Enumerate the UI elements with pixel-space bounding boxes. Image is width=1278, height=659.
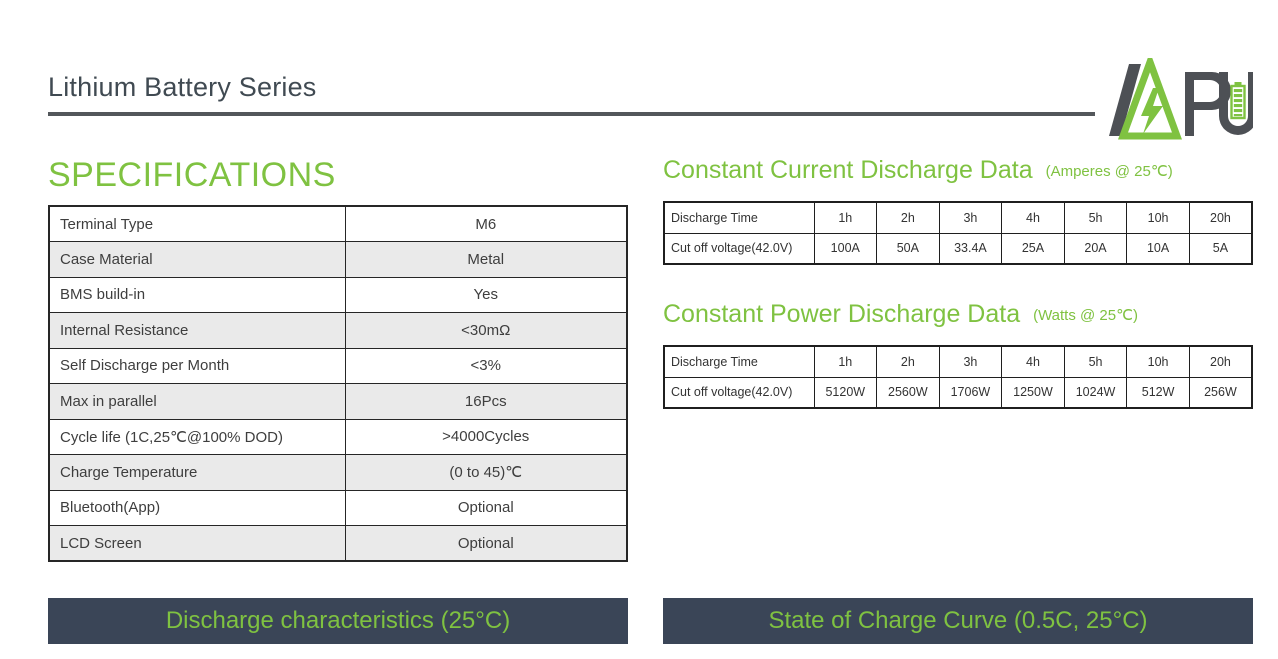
row-header-cell: Discharge Time (664, 202, 814, 233)
discharge-value-cell: 25A (1002, 233, 1065, 264)
spec-table-row: Cycle life (1C,25℃@100% DOD)>4000Cycles (49, 419, 627, 455)
discharge-time-cell: 10h (1127, 346, 1190, 377)
constant-power-table: Discharge Time1h2h3h4h5h10h20hCut off vo… (663, 345, 1253, 409)
state-of-charge-label: State of Charge Curve (0.5C, 25°C) (768, 607, 1147, 635)
constant-power-unit: (Watts @ 25℃) (1033, 307, 1138, 324)
discharge-time-cell: 4h (1002, 346, 1065, 377)
discharge-time-cell: 1h (814, 346, 877, 377)
spec-key-cell: Case Material (49, 242, 345, 278)
specifications-section: SPECIFICATIONS Terminal TypeM6Case Mater… (48, 155, 628, 562)
spec-table-row: Internal Resistance<30mΩ (49, 313, 627, 349)
constant-power-heading: Constant Power Discharge Data (Watts @ 2… (663, 299, 1253, 331)
header-divider (48, 112, 1095, 116)
discharge-time-cell: 3h (939, 346, 1002, 377)
discharge-value-cell: 33.4A (939, 233, 1002, 264)
spec-table-row: Charge Temperature(0 to 45)℃ (49, 455, 627, 491)
discharge-data-column: Constant Current Discharge Data (Amperes… (663, 155, 1253, 409)
discharge-value-cell: 512W (1127, 377, 1190, 408)
discharge-time-cell: 10h (1127, 202, 1190, 233)
discharge-value-cell: 1250W (1002, 377, 1065, 408)
discharge-value-cell: 50A (877, 233, 940, 264)
discharge-value-cell: 2560W (877, 377, 940, 408)
discharge-time-cell: 2h (877, 346, 940, 377)
specifications-table: Terminal TypeM6Case MaterialMetalBMS bui… (48, 205, 628, 562)
discharge-time-cell: 4h (1002, 202, 1065, 233)
page-title: Lithium Battery Series (48, 72, 317, 103)
spec-value-cell: <30mΩ (345, 313, 627, 349)
specifications-heading: SPECIFICATIONS (48, 155, 628, 195)
spec-table-row: BMS build-inYes (49, 277, 627, 313)
discharge-value-cell: 5120W (814, 377, 877, 408)
spec-key-cell: Charge Temperature (49, 455, 345, 491)
constant-current-heading: Constant Current Discharge Data (Amperes… (663, 155, 1253, 187)
constant-current-heading-text: Constant Current Discharge Data (663, 156, 1033, 184)
spec-key-cell: Cycle life (1C,25℃@100% DOD) (49, 419, 345, 455)
discharge-time-cell: 3h (939, 202, 1002, 233)
spec-value-cell: Optional (345, 490, 627, 526)
spec-key-cell: LCD Screen (49, 526, 345, 562)
spec-value-cell: (0 to 45)℃ (345, 455, 627, 491)
spec-value-cell: 16Pcs (345, 384, 627, 420)
discharge-time-cell: 5h (1064, 202, 1127, 233)
constant-current-row: Discharge Time1h2h3h4h5h10h20h (664, 202, 1252, 233)
spec-table-row: Max in parallel16Pcs (49, 384, 627, 420)
discharge-time-cell: 5h (1064, 346, 1127, 377)
spec-value-cell: Metal (345, 242, 627, 278)
discharge-value-cell: 100A (814, 233, 877, 264)
state-of-charge-banner: State of Charge Curve (0.5C, 25°C) (663, 598, 1253, 644)
spec-key-cell: Terminal Type (49, 206, 345, 242)
constant-power-heading-text: Constant Power Discharge Data (663, 300, 1020, 328)
spec-table-row: Bluetooth(App)Optional (49, 490, 627, 526)
discharge-value-cell: 5A (1189, 233, 1252, 264)
discharge-characteristics-label: Discharge characteristics (25°C) (166, 607, 510, 635)
row-header-cell: Cut off voltage(42.0V) (664, 377, 814, 408)
spec-key-cell: Self Discharge per Month (49, 348, 345, 384)
spec-value-cell: M6 (345, 206, 627, 242)
spec-value-cell: Yes (345, 277, 627, 313)
spec-value-cell: <3% (345, 348, 627, 384)
constant-power-row: Cut off voltage(42.0V)5120W2560W1706W125… (664, 377, 1252, 408)
spec-value-cell: Optional (345, 526, 627, 562)
constant-current-row: Cut off voltage(42.0V)100A50A33.4A25A20A… (664, 233, 1252, 264)
constant-power-section: Constant Power Discharge Data (Watts @ 2… (663, 299, 1253, 409)
discharge-value-cell: 20A (1064, 233, 1127, 264)
spec-table-row: Case MaterialMetal (49, 242, 627, 278)
row-header-cell: Cut off voltage(42.0V) (664, 233, 814, 264)
discharge-value-cell: 1024W (1064, 377, 1127, 408)
apus-logo (1093, 58, 1253, 140)
constant-current-unit: (Amperes @ 25℃) (1046, 163, 1173, 180)
constant-power-row: Discharge Time1h2h3h4h5h10h20h (664, 346, 1252, 377)
constant-current-section: Constant Current Discharge Data (Amperes… (663, 155, 1253, 265)
spec-key-cell: Max in parallel (49, 384, 345, 420)
constant-current-table: Discharge Time1h2h3h4h5h10h20hCut off vo… (663, 201, 1253, 265)
spec-key-cell: BMS build-in (49, 277, 345, 313)
spec-table-row: Self Discharge per Month<3% (49, 348, 627, 384)
spec-value-cell: >4000Cycles (345, 419, 627, 455)
row-header-cell: Discharge Time (664, 346, 814, 377)
discharge-value-cell: 1706W (939, 377, 1002, 408)
discharge-time-cell: 2h (877, 202, 940, 233)
discharge-time-cell: 20h (1189, 346, 1252, 377)
spec-table-row: Terminal TypeM6 (49, 206, 627, 242)
spec-table-row: LCD ScreenOptional (49, 526, 627, 562)
spec-key-cell: Internal Resistance (49, 313, 345, 349)
discharge-characteristics-banner: Discharge characteristics (25°C) (48, 598, 628, 644)
page-header: Lithium Battery Series (0, 0, 1278, 150)
discharge-time-cell: 20h (1189, 202, 1252, 233)
discharge-value-cell: 256W (1189, 377, 1252, 408)
discharge-value-cell: 10A (1127, 233, 1190, 264)
discharge-time-cell: 1h (814, 202, 877, 233)
spec-key-cell: Bluetooth(App) (49, 490, 345, 526)
